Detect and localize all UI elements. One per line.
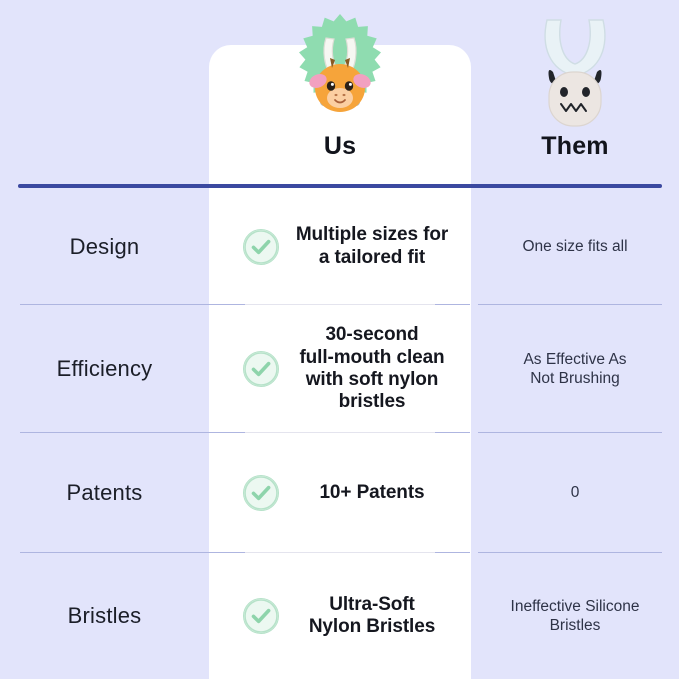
check-circle-icon <box>243 351 279 387</box>
column-header-us-label: Us <box>209 132 471 161</box>
check-circle-icon <box>243 229 279 265</box>
row-us-cell: Multiple sizes for a tailored fit <box>209 188 471 305</box>
row-us-cell: Ultra-Soft Nylon Bristles <box>209 553 471 679</box>
us-value-line: with soft nylon <box>291 369 453 391</box>
row-us-cell: 30-second full-mouth clean with soft nyl… <box>209 305 471 433</box>
us-value: 30-second full-mouth clean with soft nyl… <box>291 324 459 414</box>
them-value-line: As Effective As <box>481 350 669 369</box>
column-header-us: Us <box>209 8 471 161</box>
row-them-cell: 0 <box>471 433 679 553</box>
us-value-line: a tailored fit <box>291 247 453 269</box>
us-value-line: Multiple sizes for <box>291 224 453 246</box>
us-value-line: Nylon Bristles <box>291 616 453 638</box>
row-feature-cell: Design <box>0 188 209 305</box>
them-value-line: 0 <box>481 483 669 502</box>
them-value: Ineffective Silicone Bristles <box>481 597 669 636</box>
feature-label: Bristles <box>0 603 209 629</box>
row-them-cell: Ineffective Silicone Bristles <box>471 553 679 679</box>
row-feature-cell: Patents <box>0 433 209 553</box>
us-value-line: Ultra-Soft <box>291 594 453 616</box>
table-row: Design Multiple sizes for a tailored fit… <box>0 188 679 305</box>
us-value: Ultra-Soft Nylon Bristles <box>291 594 459 639</box>
us-value: 10+ Patents <box>291 482 459 504</box>
them-value-line: One size fits all <box>481 237 669 256</box>
table-header: Us Them <box>0 0 679 186</box>
check-circle-icon <box>243 598 279 634</box>
feature-label: Design <box>0 234 209 260</box>
table-row: Efficiency 30-second full-mouth clean wi… <box>0 305 679 433</box>
them-value: One size fits all <box>481 237 669 256</box>
feature-label: Patents <box>0 480 209 506</box>
us-value: Multiple sizes for a tailored fit <box>291 224 459 269</box>
us-value-line: 30-second <box>291 324 453 346</box>
row-them-cell: One size fits all <box>471 188 679 305</box>
row-us-cell: 10+ Patents <box>209 433 471 553</box>
table-row: Bristles Ultra-Soft Nylon Bristles Ineff… <box>0 553 679 679</box>
comparison-rows: Design Multiple sizes for a tailored fit… <box>0 188 679 679</box>
us-value-line: bristles <box>291 391 453 413</box>
them-value: 0 <box>481 483 669 502</box>
us-value-line: 10+ Patents <box>291 482 453 504</box>
us-value-line: full-mouth clean <box>291 347 453 369</box>
table-row: Patents 10+ Patents 0 <box>0 433 679 553</box>
giraffe-u-shaped-toothbrush-badge-icon <box>209 8 471 130</box>
row-feature-cell: Efficiency <box>0 305 209 433</box>
them-value-line: Ineffective Silicone <box>481 597 669 616</box>
column-header-them-label: Them <box>471 132 679 161</box>
header-divider-rule <box>18 184 662 188</box>
them-value-line: Not Brushing <box>481 369 669 388</box>
comparison-table: Us Them <box>0 0 679 679</box>
feature-label: Efficiency <box>0 356 209 382</box>
them-value-line: Bristles <box>481 616 669 635</box>
row-them-cell: As Effective As Not Brushing <box>471 305 679 433</box>
row-feature-cell: Bristles <box>0 553 209 679</box>
check-circle-icon <box>243 475 279 511</box>
them-value: As Effective As Not Brushing <box>481 350 669 389</box>
panda-u-shaped-toothbrush-icon <box>471 8 679 130</box>
column-header-them: Them <box>471 8 679 161</box>
